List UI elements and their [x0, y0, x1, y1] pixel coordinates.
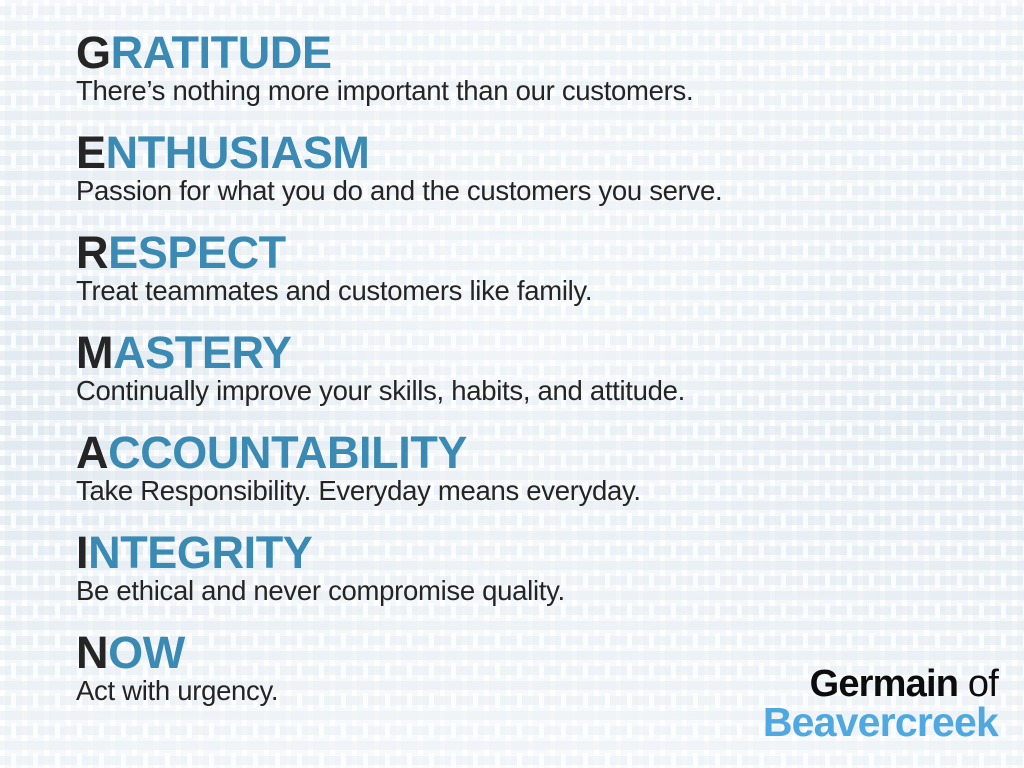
value-row: GRATITUDE There’s nothing more important…: [76, 30, 1004, 130]
value-word-rest: ESPECT: [108, 227, 286, 278]
value-description: Be ethical and never compromise quality.: [76, 576, 1004, 607]
value-word-rest: RATITUDE: [111, 27, 332, 78]
value-heading: INTEGRITY: [76, 530, 1004, 575]
value-heading: RESPECT: [76, 230, 1004, 275]
value-row: RESPECT Treat teammates and customers li…: [76, 230, 1004, 330]
value-description: There’s nothing more important than our …: [76, 76, 1004, 107]
value-heading: ENTHUSIASM: [76, 130, 1004, 175]
values-slide: GRATITUDE There’s nothing more important…: [0, 0, 1024, 768]
value-word-rest: NTHUSIASM: [106, 127, 370, 178]
logo-location-name: Beavercreek: [763, 702, 998, 744]
value-word-rest: OW: [108, 627, 185, 678]
value-initial-letter: I: [76, 527, 88, 578]
value-row: MASTERY Continually improve your skills,…: [76, 330, 1004, 430]
value-heading: MASTERY: [76, 330, 1004, 375]
value-description: Passion for what you do and the customer…: [76, 176, 1004, 207]
value-initial-letter: N: [76, 627, 108, 678]
value-description: Continually improve your skills, habits,…: [76, 376, 1004, 407]
core-values-list: GRATITUDE There’s nothing more important…: [76, 30, 1004, 730]
value-initial-letter: A: [76, 427, 108, 478]
value-heading: GRATITUDE: [76, 30, 1004, 75]
value-row: INTEGRITY Be ethical and never compromis…: [76, 530, 1004, 630]
value-initial-letter: G: [76, 27, 111, 78]
value-word-rest: NTEGRITY: [88, 527, 312, 578]
value-word-rest: CCOUNTABILITY: [108, 427, 467, 478]
value-description: Treat teammates and customers like famil…: [76, 276, 1004, 307]
value-row: ACCOUNTABILITY Take Responsibility. Ever…: [76, 430, 1004, 530]
dealership-logo: Germain of Beavercreek: [763, 665, 998, 744]
value-description: Take Responsibility. Everyday means ever…: [76, 476, 1004, 507]
value-heading: ACCOUNTABILITY: [76, 430, 1004, 475]
value-row: ENTHUSIASM Passion for what you do and t…: [76, 130, 1004, 230]
value-initial-letter: E: [76, 127, 106, 178]
value-initial-letter: R: [76, 227, 108, 278]
value-initial-letter: M: [76, 327, 113, 378]
value-word-rest: ASTERY: [113, 327, 291, 378]
